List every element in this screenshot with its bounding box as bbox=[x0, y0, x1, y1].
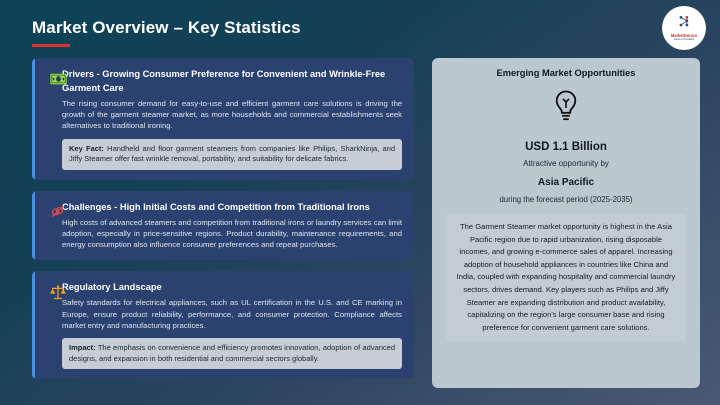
card-body: The rising consumer demand for easy-to-u… bbox=[62, 98, 402, 132]
key-fact-callout: Key Fact: Handheld and floor garment ste… bbox=[62, 139, 402, 170]
header: Market Overview – Key Statistics bbox=[32, 18, 301, 47]
card-title: Challenges - High Initial Costs and Comp… bbox=[62, 200, 402, 214]
brand-logo: MarketGenics Ideas to Innovation bbox=[662, 6, 706, 50]
card-title: Regulatory Landscape bbox=[62, 280, 402, 294]
money-banknote-icon bbox=[48, 69, 68, 89]
broken-chain-icon bbox=[48, 202, 68, 222]
network-nodes-icon bbox=[677, 15, 692, 33]
callout-label: Key Fact: bbox=[69, 144, 104, 153]
card-accent-bar bbox=[32, 58, 35, 180]
emerging-opportunities-panel: Emerging Market Opportunities USD 1.1 Bi… bbox=[432, 58, 700, 388]
card-accent-bar bbox=[32, 271, 35, 379]
lightbulb-icon bbox=[551, 89, 581, 128]
callout-text: Handheld and floor garment steamers from… bbox=[69, 144, 395, 164]
title-underline-accent bbox=[32, 44, 70, 47]
card-body: High costs of advanced steamers and comp… bbox=[62, 217, 402, 251]
callout-text: The emphasis on convenience and efficien… bbox=[69, 343, 395, 363]
page-title: Market Overview – Key Statistics bbox=[32, 18, 301, 38]
logo-tagline: Ideas to Innovation bbox=[674, 38, 694, 41]
panel-title: Emerging Market Opportunities bbox=[497, 68, 636, 78]
insight-card-challenges: Challenges - High Initial Costs and Comp… bbox=[32, 191, 414, 261]
insight-card-list: Drivers - Growing Consumer Preference fo… bbox=[32, 58, 414, 379]
card-title: Drivers - Growing Consumer Preference fo… bbox=[62, 67, 402, 95]
forecast-period-note: during the forecast period (2025-2035) bbox=[499, 195, 632, 204]
balance-scales-icon bbox=[48, 282, 68, 302]
callout-label: Impact: bbox=[69, 343, 96, 352]
impact-callout: Impact: The emphasis on convenience and … bbox=[62, 338, 402, 369]
card-body: Safety standards for electrical applianc… bbox=[62, 297, 402, 331]
card-accent-bar bbox=[32, 191, 35, 261]
insight-card-regulatory: Regulatory Landscape Safety standards fo… bbox=[32, 271, 414, 379]
opportunity-caption: Attractive opportunity by bbox=[523, 159, 609, 168]
opportunity-value: USD 1.1 Billion bbox=[525, 141, 607, 153]
opportunity-region: Asia Pacific bbox=[538, 177, 594, 188]
insight-card-drivers: Drivers - Growing Consumer Preference fo… bbox=[32, 58, 414, 180]
opportunity-summary: The Garment Steamer market opportunity i… bbox=[446, 214, 686, 341]
